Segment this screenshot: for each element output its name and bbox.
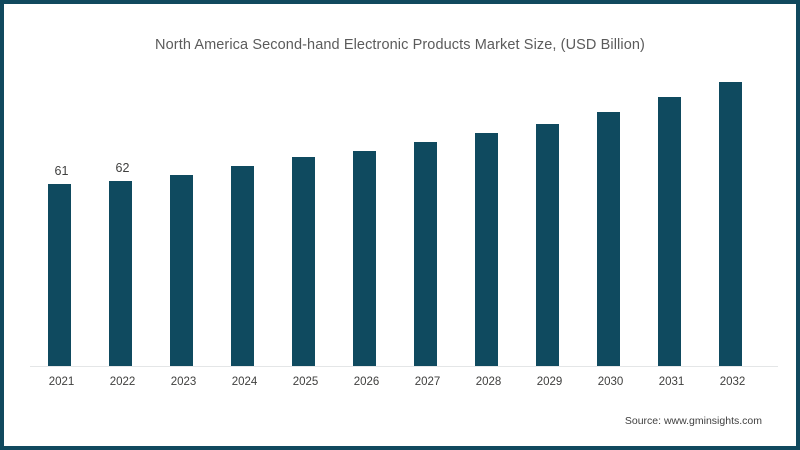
bar [658, 97, 681, 366]
bar [475, 133, 498, 366]
bar [231, 166, 254, 366]
x-axis-tick-label: 2032 [702, 376, 763, 388]
plot-area: 6162 20212022202320242025202620272028202… [4, 4, 796, 446]
bar-group [336, 76, 397, 366]
x-axis-tick-label: 2028 [458, 376, 519, 388]
bar-group [458, 76, 519, 366]
x-axis-tick-label: 2031 [641, 376, 702, 388]
bar [536, 124, 559, 366]
bar [414, 142, 437, 366]
bar-value-label: 62 [92, 161, 153, 175]
x-axis-tick-label: 2027 [397, 376, 458, 388]
chart-canvas: North America Second-hand Electronic Pro… [4, 4, 796, 446]
bar [353, 151, 376, 366]
chart-image: North America Second-hand Electronic Pro… [0, 0, 800, 450]
bar-group [397, 76, 458, 366]
bar [170, 175, 193, 366]
x-axis-tick-label: 2022 [92, 376, 153, 388]
bar-group [702, 76, 763, 366]
bar-group [214, 76, 275, 366]
x-axis-tick-label: 2024 [214, 376, 275, 388]
x-axis-tick-label: 2025 [275, 376, 336, 388]
x-axis-tick-label: 2030 [580, 376, 641, 388]
x-axis-tick-label: 2026 [336, 376, 397, 388]
bar-group [580, 76, 641, 366]
bar [719, 82, 742, 366]
bar-group: 62 [92, 76, 153, 366]
bar-group [275, 76, 336, 366]
bar-group [519, 76, 580, 366]
bar [48, 184, 71, 366]
bar [292, 157, 315, 366]
bar-value-label: 61 [31, 164, 92, 178]
bar [597, 112, 620, 366]
x-axis-tick-label: 2021 [31, 376, 92, 388]
x-axis-line [30, 366, 778, 367]
bar-group [641, 76, 702, 366]
bar-group [153, 76, 214, 366]
x-axis-tick-label: 2029 [519, 376, 580, 388]
source-attribution: Source: www.gminsights.com [625, 415, 762, 427]
bar-group: 61 [31, 76, 92, 366]
x-axis-tick-label: 2023 [153, 376, 214, 388]
bar [109, 181, 132, 366]
